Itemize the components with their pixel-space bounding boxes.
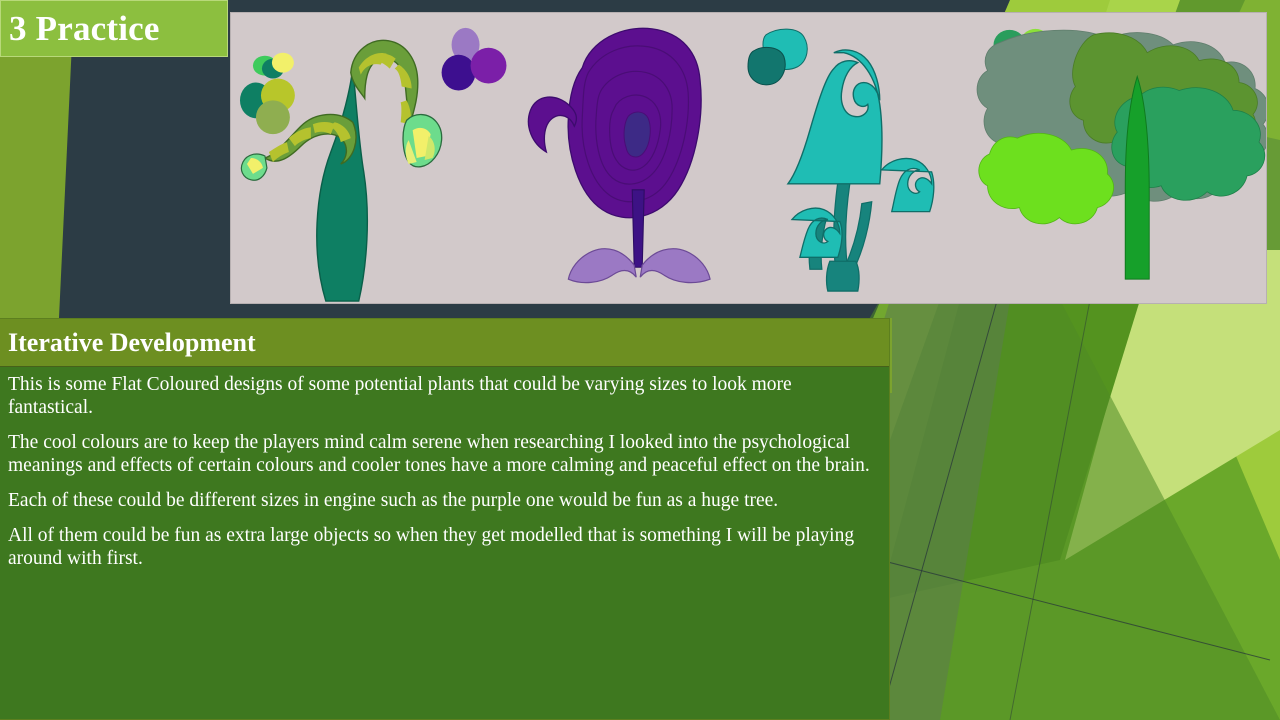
page-title: 3 Practice	[1, 11, 160, 46]
content-card-body: This is some Flat Coloured designs of so…	[0, 367, 889, 719]
body-paragraph-4: All of them could be fun as extra large …	[8, 524, 875, 570]
content-card-header: Iterative Development	[0, 319, 889, 367]
slide: 3 Practice	[0, 0, 1280, 720]
body-paragraph-1: This is some Flat Coloured designs of so…	[8, 373, 875, 419]
body-paragraph-3: Each of these could be different sizes i…	[8, 489, 875, 512]
content-card: Iterative Development This is some Flat …	[0, 318, 890, 720]
content-card-title: Iterative Development	[8, 330, 256, 356]
concept-art-image	[230, 12, 1267, 304]
body-paragraph-2: The cool colours are to keep the players…	[8, 431, 875, 477]
slide-title-box: 3 Practice	[0, 0, 228, 57]
plant-concept-illustration	[231, 13, 1266, 303]
